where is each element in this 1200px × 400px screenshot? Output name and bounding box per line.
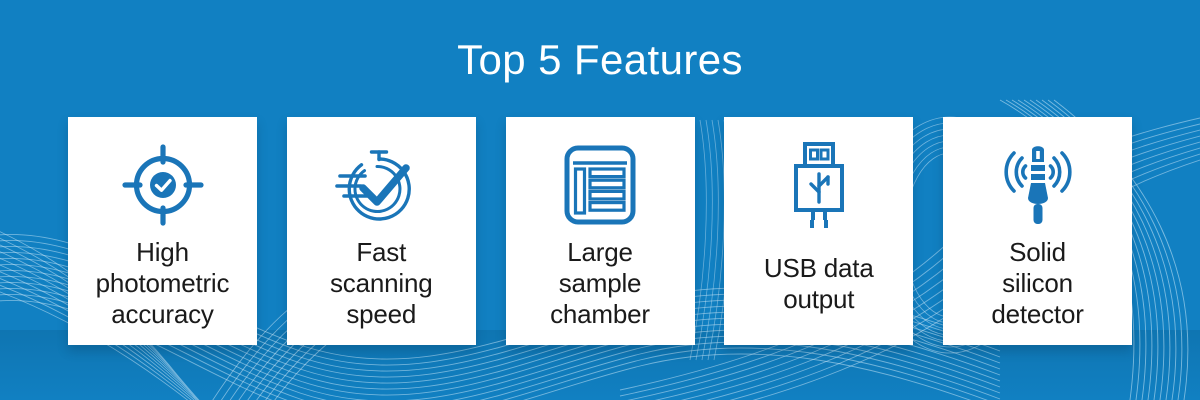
stopwatch-check-icon bbox=[334, 135, 428, 235]
feature-card-label: Large sample chamber bbox=[506, 237, 695, 330]
banner-title: Top 5 Features bbox=[0, 34, 1200, 86]
target-check-icon bbox=[121, 135, 205, 235]
feature-card-fast-scanning-speed[interactable]: Fast scanning speed bbox=[287, 117, 476, 345]
feature-card-label: High photometric accuracy bbox=[68, 237, 257, 330]
features-banner: Top 5 Features bbox=[0, 0, 1200, 400]
feature-card-solid-silicon-detector[interactable]: Solid silicon detector bbox=[943, 117, 1132, 345]
feature-card-large-sample-chamber[interactable]: Large sample chamber bbox=[506, 117, 695, 345]
usb-connector-icon bbox=[788, 135, 850, 235]
feature-card-label: Fast scanning speed bbox=[287, 237, 476, 330]
feature-card-high-photometric-accuracy[interactable]: High photometric accuracy bbox=[68, 117, 257, 345]
feature-card-label: Solid silicon detector bbox=[943, 237, 1132, 330]
silicon-detector-icon bbox=[992, 135, 1084, 235]
feature-cards-row: High photometric accuracy bbox=[68, 117, 1132, 345]
sample-chamber-icon bbox=[563, 135, 637, 235]
feature-card-label: USB data output bbox=[724, 253, 913, 315]
feature-card-usb-data-output[interactable]: USB data output bbox=[724, 117, 913, 345]
